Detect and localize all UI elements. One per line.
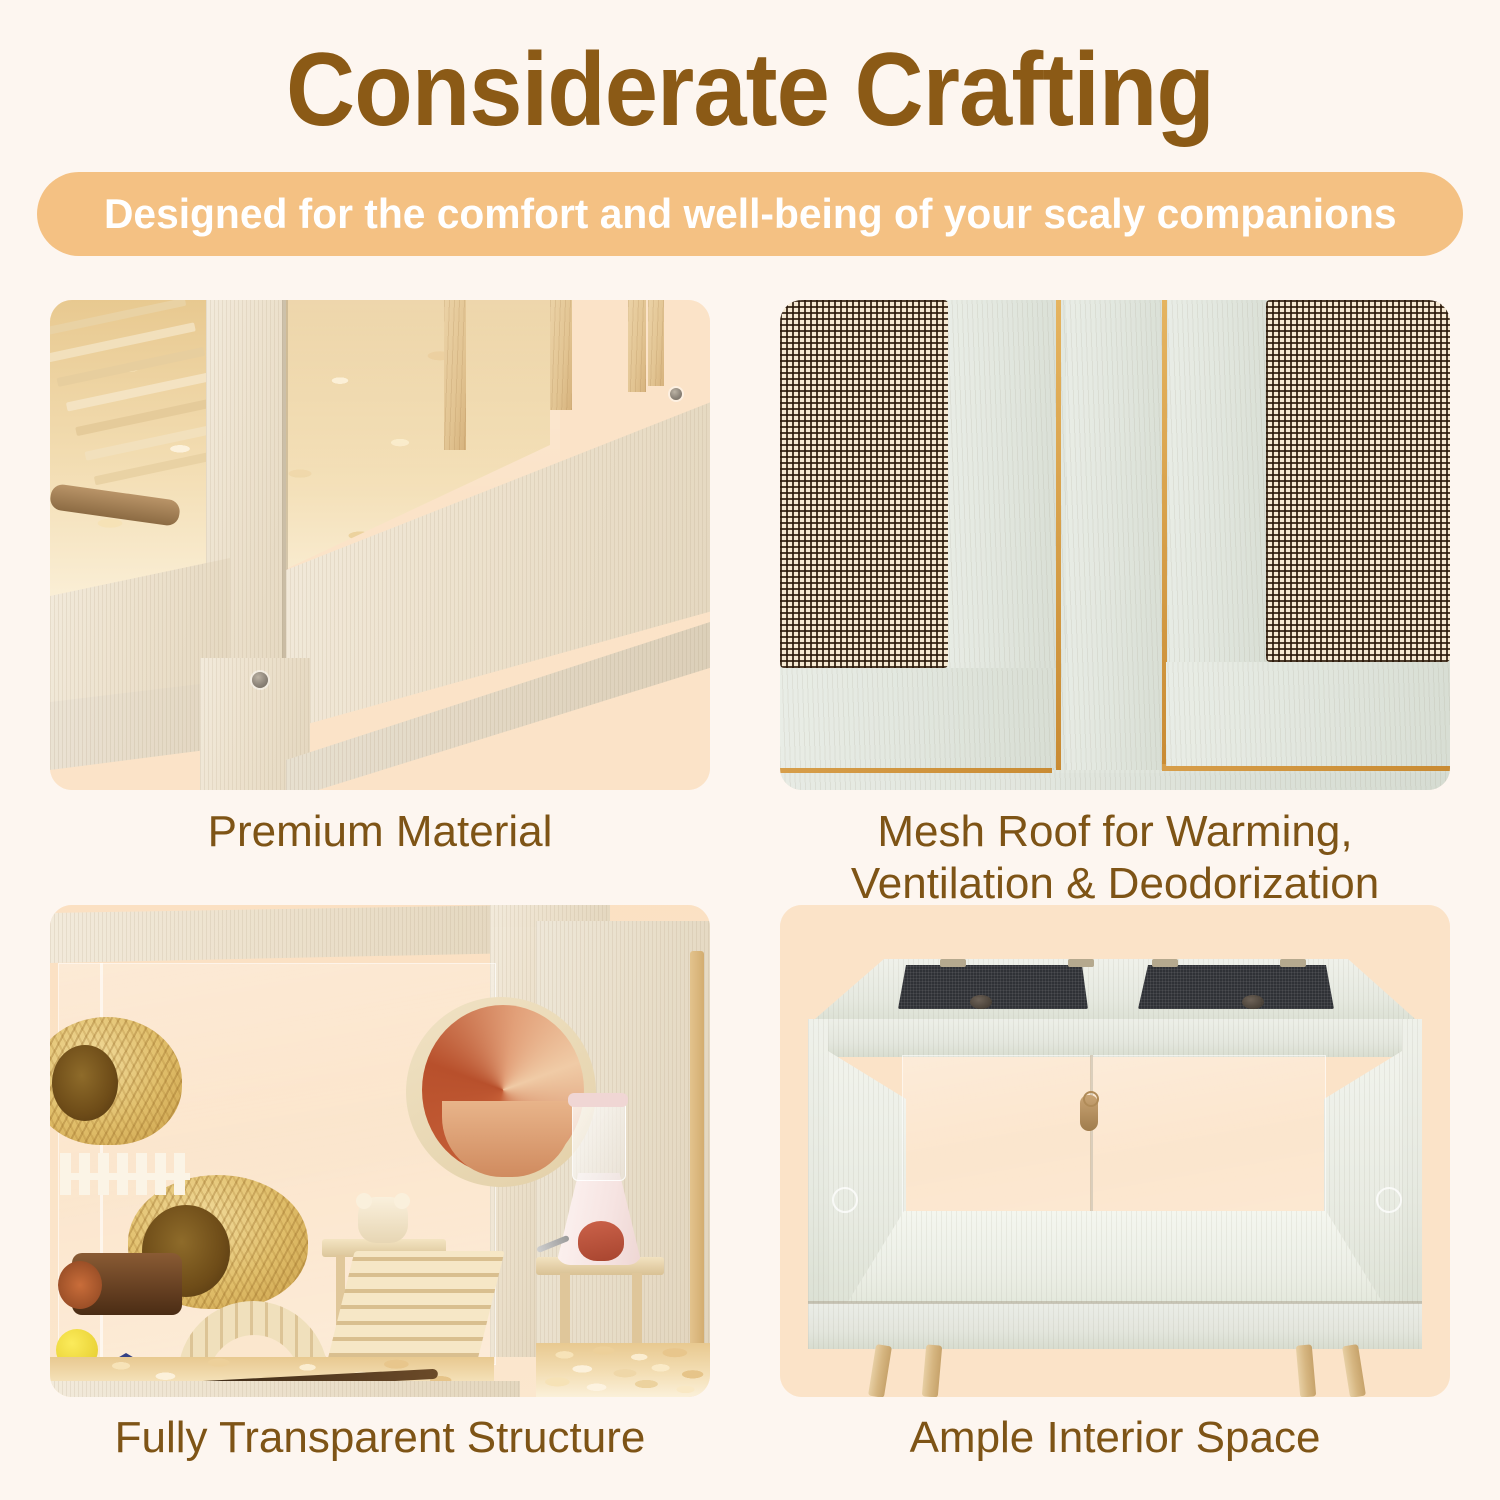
caption-line-1: Ample Interior Space	[910, 1413, 1321, 1462]
caption-line-1: Fully Transparent Structure	[115, 1413, 646, 1462]
mesh-lid-left	[898, 965, 1088, 1009]
feature-image-ample-interior	[780, 905, 1450, 1397]
page-title: Considerate Crafting	[60, 34, 1440, 146]
caption-transparent-structure: Fully Transparent Structure	[50, 1412, 710, 1464]
vent-hole-right	[1376, 1187, 1402, 1213]
vent-hole-left	[832, 1187, 858, 1213]
feature-image-premium-material	[50, 300, 710, 790]
screw-icon	[252, 672, 268, 688]
caption-ample-interior: Ample Interior Space	[780, 1412, 1450, 1464]
subtitle-banner: Designed for the comfort and well-being …	[37, 172, 1463, 256]
mesh-screen-left	[780, 300, 948, 668]
mesh-screen-right	[1266, 300, 1450, 662]
infographic-page: Considerate Crafting Designed for the co…	[0, 0, 1500, 1500]
mesh-lid-right	[1138, 965, 1334, 1009]
caption-line-1: Premium Material	[208, 807, 553, 856]
caption-mesh-roof: Mesh Roof for Warming, Ventilation & Deo…	[760, 806, 1470, 910]
screw-icon	[670, 388, 682, 400]
caption-line-1: Mesh Roof for Warming,	[877, 807, 1352, 856]
caption-line-2: Ventilation & Deodorization	[760, 858, 1470, 910]
lid-knob-left[interactable]	[970, 995, 992, 1009]
feature-image-transparent-structure	[50, 905, 710, 1397]
lid-knob-right[interactable]	[1242, 995, 1264, 1009]
subtitle-text: Designed for the comfort and well-being …	[104, 190, 1397, 238]
feature-image-mesh-roof	[780, 300, 1450, 790]
caption-premium-material: Premium Material	[50, 806, 710, 858]
